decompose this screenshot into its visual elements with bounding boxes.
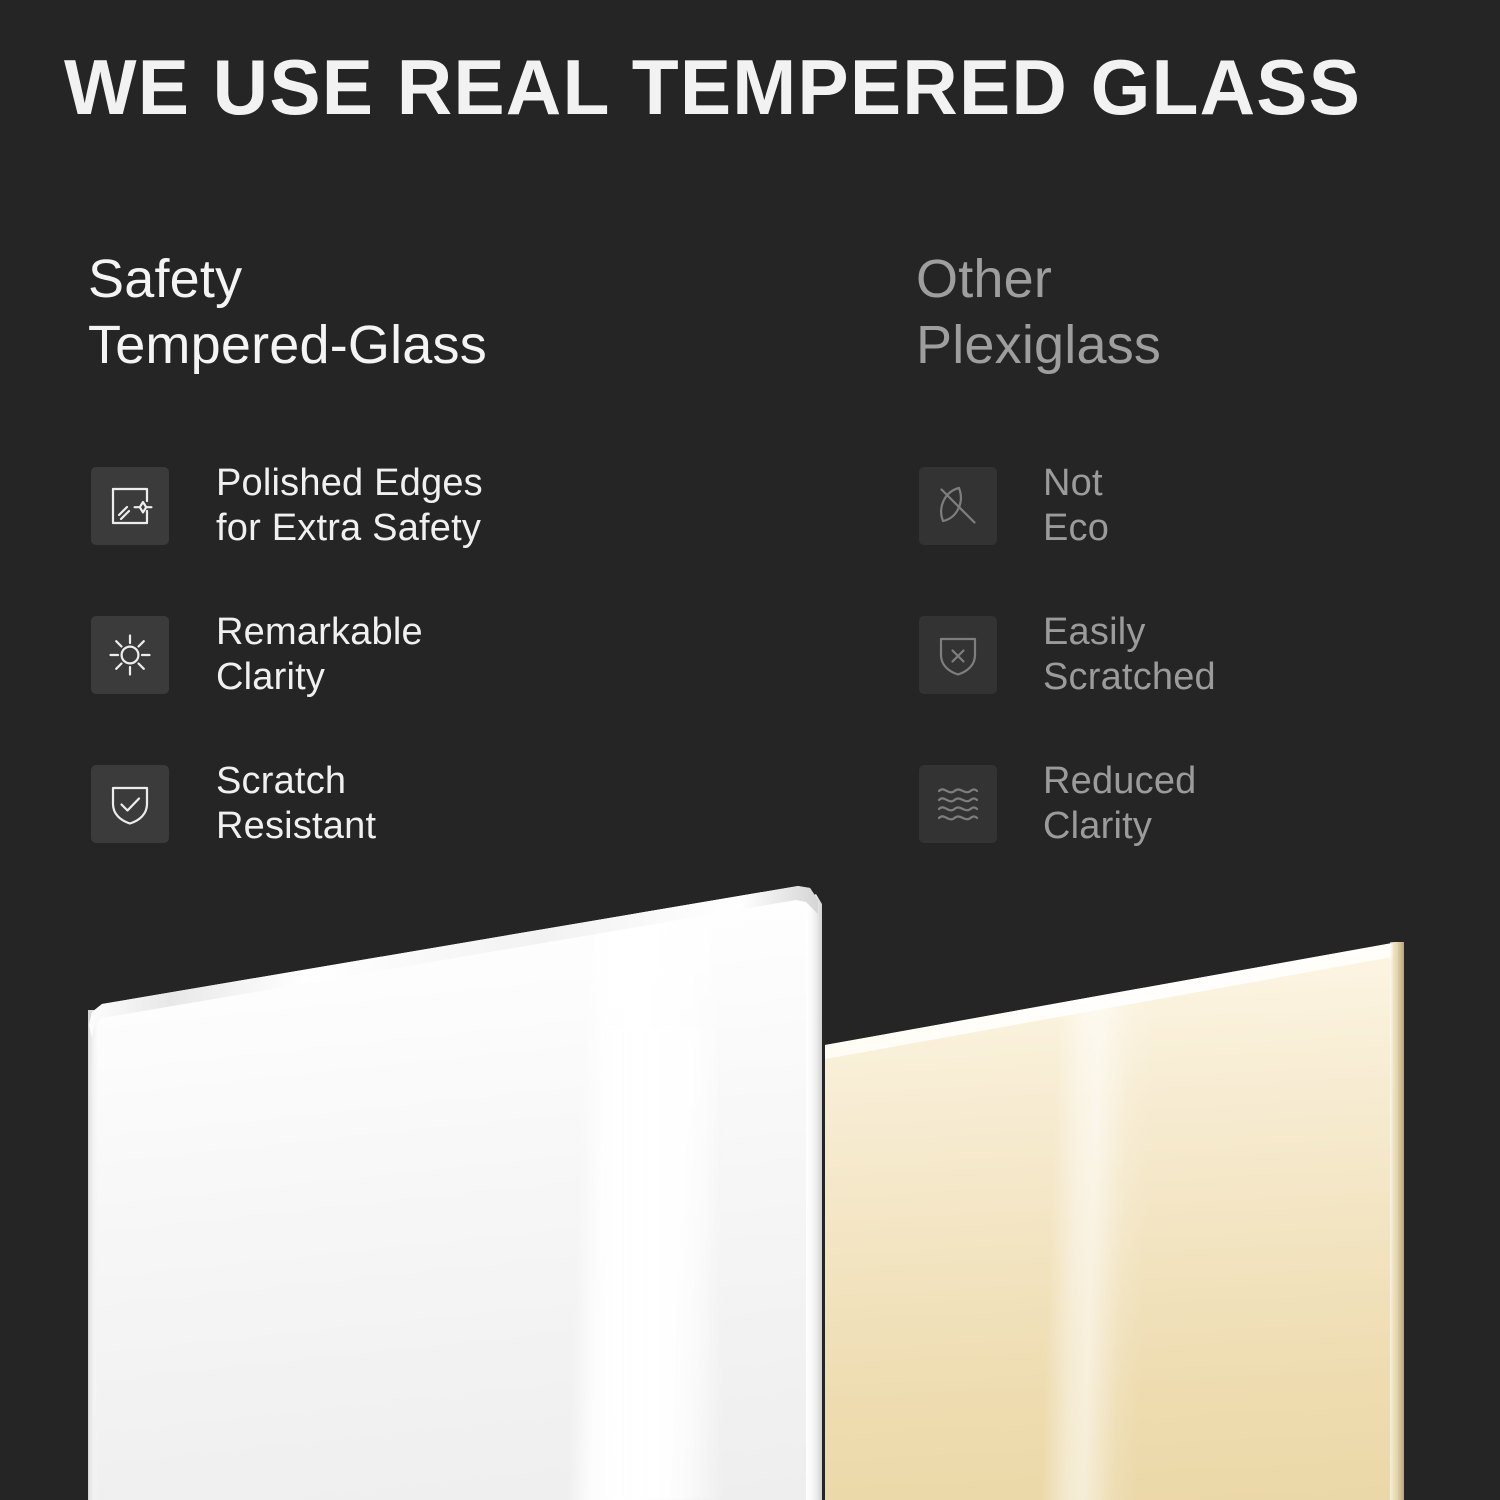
plexiglass-panel	[820, 860, 1405, 1500]
feature-remarkable-clarity: Remarkable Clarity	[91, 616, 851, 694]
tempered-glass-panel-left-bevel	[88, 1010, 98, 1500]
feature-list-safety: Polished Edges for Extra Safety	[91, 467, 851, 843]
feature-list-plexiglass: Not Eco Easily Scratched	[919, 467, 1479, 843]
column-other-plexiglass: Other Plexiglass Not Eco	[916, 246, 1476, 378]
feature-label-reduced-clarity: Reduced Clarity	[1043, 759, 1197, 849]
polished-edge-sparkle-icon	[91, 467, 169, 545]
feature-polished-edges: Polished Edges for Extra Safety	[91, 467, 851, 545]
feature-label-polished-edges: Polished Edges for Extra Safety	[216, 461, 483, 551]
feature-label-remarkable-clarity: Remarkable Clarity	[216, 610, 423, 700]
feature-scratch-resistant: Scratch Resistant	[91, 765, 851, 843]
tempered-glass-panel-right-bevel	[806, 894, 822, 1500]
shield-x-icon	[919, 616, 997, 694]
feature-easily-scratched: Easily Scratched	[919, 616, 1479, 694]
feature-not-eco: Not Eco	[919, 467, 1479, 545]
column-heading-plexiglass: Other Plexiglass	[916, 246, 1476, 378]
feature-label-not-eco: Not Eco	[1043, 461, 1109, 551]
product-glass-panels-image	[0, 860, 1500, 1500]
infographic-root: WE USE REAL TEMPERED GLASS Safety Temper…	[0, 0, 1500, 1500]
page-title: WE USE REAL TEMPERED GLASS	[64, 42, 1433, 132]
sun-clarity-icon	[91, 616, 169, 694]
shield-check-icon	[91, 765, 169, 843]
wavy-lines-icon	[919, 765, 997, 843]
plexiglass-panel-right-edge	[1390, 942, 1404, 1500]
feature-label-easily-scratched: Easily Scratched	[1043, 610, 1216, 700]
leaf-crossed-out-icon	[919, 467, 997, 545]
column-heading-safety: Safety Tempered-Glass	[88, 246, 848, 378]
feature-reduced-clarity: Reduced Clarity	[919, 765, 1479, 843]
column-safety-tempered-glass: Safety Tempered-Glass Polished Edges for…	[88, 246, 848, 378]
feature-label-scratch-resistant: Scratch Resistant	[216, 759, 376, 849]
tempered-glass-panel-sheen	[595, 1028, 725, 1500]
